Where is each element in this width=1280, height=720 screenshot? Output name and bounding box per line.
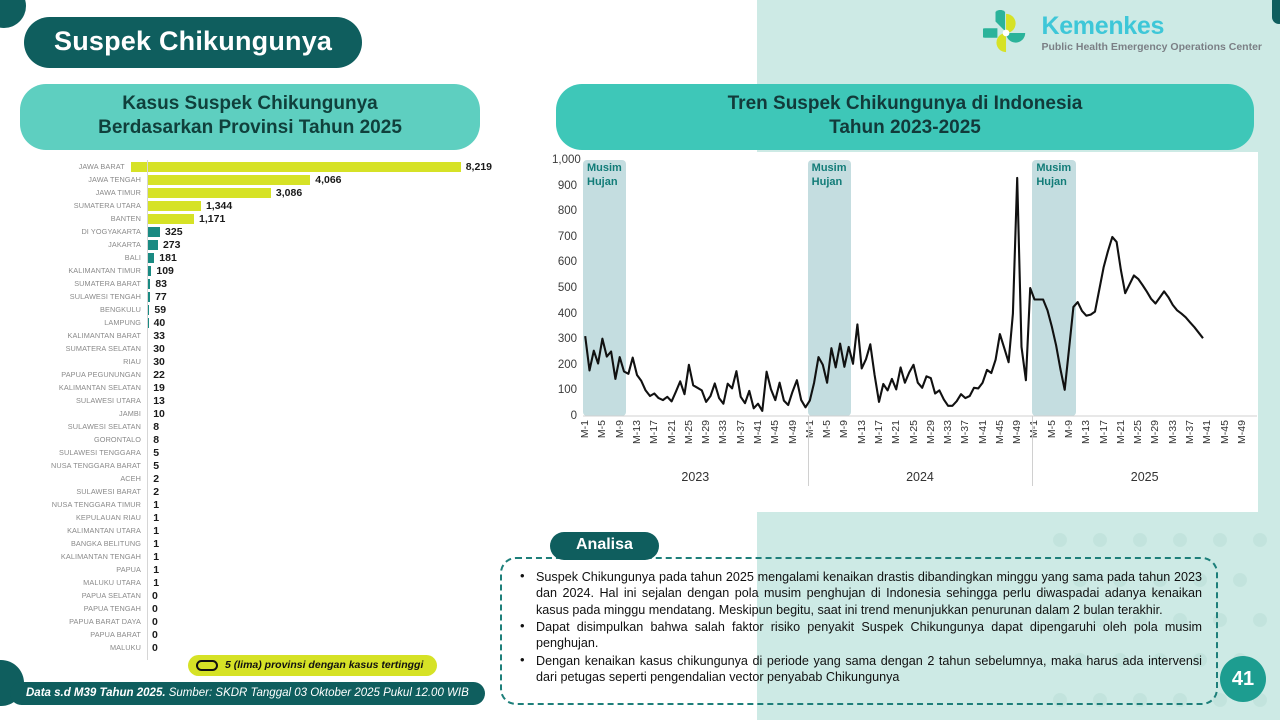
bar-track: 8 (147, 420, 492, 433)
season-label-line1: Musim (1036, 162, 1071, 174)
bar-category-label: KALIMANTAN TIMUR (22, 266, 147, 275)
bar-category-label: KALIMANTAN TENGAH (22, 552, 147, 561)
footer-rest: Sumber: SKDR Tanggal 03 Oktober 2025 Puk… (166, 687, 469, 699)
bar-value-label: 1 (153, 564, 159, 576)
bar-row: SULAWESI UTARA13 (22, 394, 492, 407)
bar-row: SULAWESI SELATAN8 (22, 420, 492, 433)
bar-category-label: PAPUA BARAT DAYA (22, 617, 147, 626)
bar-value-label: 1 (153, 499, 159, 511)
bar-value-label: 77 (155, 291, 167, 303)
bar-track: 5 (147, 446, 492, 459)
bar-track: 1 (147, 550, 492, 563)
legend-label: 5 (lima) provinsi dengan kasus tertinggi (225, 659, 423, 671)
season-label-line1: Musim (587, 162, 622, 174)
bar-value-label: 5 (153, 460, 159, 472)
bar-track: 1 (147, 537, 492, 550)
bar-category-label: SUMATERA BARAT (22, 279, 147, 288)
trend-series-svg (552, 152, 1258, 512)
season-label-line2: Hujan (1036, 176, 1067, 188)
analysis-badge: Analisa (550, 532, 659, 560)
bar-value-label: 8 (153, 421, 159, 433)
bar-category-label: BALI (22, 253, 147, 262)
bar-fill (147, 214, 194, 224)
bar-track: 325 (147, 225, 492, 238)
bar-row: KALIMANTAN SELATAN19 (22, 381, 492, 394)
bar-category-label: MALUKU UTARA (22, 578, 147, 587)
bar-value-label: 1 (153, 512, 159, 524)
bar-category-label: RIAU (22, 357, 147, 366)
bar-fill (147, 240, 158, 250)
bar-category-label: SUMATERA UTARA (22, 201, 147, 210)
bar-fill (147, 201, 201, 211)
bar-track: 1 (147, 524, 492, 537)
bar-row: KEPULAUAN RIAU1 (22, 511, 492, 524)
bar-value-label: 3,086 (276, 187, 302, 199)
bar-row: JAMBI10 (22, 407, 492, 420)
bar-value-label: 0 (152, 590, 158, 602)
decorative-circle-top-left (0, 0, 26, 28)
bar-value-label: 0 (152, 629, 158, 641)
bar-row: GORONTALO8 (22, 433, 492, 446)
bar-track: 1 (147, 563, 492, 576)
bar-value-label: 19 (153, 382, 165, 394)
bar-value-label: 8 (153, 434, 159, 446)
bar-track: 40 (147, 316, 492, 329)
bar-row: PAPUA BARAT DAYA0 (22, 615, 492, 628)
bar-track: 0 (147, 628, 492, 641)
bar-value-label: 33 (153, 330, 165, 342)
kemenkes-logo-icon (983, 10, 1031, 56)
bar-category-label: SUMATERA SELATAN (22, 344, 147, 353)
bar-track: 33 (147, 329, 492, 342)
page-title: Suspek Chikungunya (24, 17, 362, 68)
trend-line-chart: 01002003004005006007008009001,000MusimHu… (552, 152, 1258, 512)
bar-value-label: 273 (163, 239, 181, 251)
bar-category-label: KEPULAUAN RIAU (22, 513, 147, 522)
bar-track: 0 (147, 615, 492, 628)
data-source-footer: Data s.d M39 Tahun 2025. Sumber: SKDR Ta… (10, 682, 485, 705)
bar-value-label: 1 (153, 525, 159, 537)
bar-value-label: 40 (154, 317, 166, 329)
analysis-item: Dengan kenaikan kasus chikungunya di per… (516, 653, 1202, 686)
bar-row: DI YOGYAKARTA325 (22, 225, 492, 238)
bar-value-label: 10 (153, 408, 165, 420)
bar-category-label: SULAWESI TENGGARA (22, 448, 147, 457)
bar-category-label: KALIMANTAN UTARA (22, 526, 147, 535)
bar-value-label: 2 (153, 473, 159, 485)
bar-value-label: 59 (154, 304, 166, 316)
bar-value-label: 0 (152, 616, 158, 628)
bar-row: JAWA TIMUR3,086 (22, 186, 492, 199)
bar-fill (131, 162, 461, 172)
kemenkes-logo: Kemenkes Public Health Emergency Operati… (983, 10, 1262, 56)
season-label-line2: Hujan (587, 176, 618, 188)
bar-category-label: JAWA BARAT (22, 162, 131, 171)
bar-track: 1,171 (147, 212, 492, 225)
bar-value-label: 13 (153, 395, 165, 407)
bar-track: 3,086 (147, 186, 492, 199)
bar-row: BENGKULU59 (22, 303, 492, 316)
left-chart-title-line1: Kasus Suspek Chikungunya (34, 92, 466, 116)
bar-row: ACEH2 (22, 472, 492, 485)
rainy-season-label: MusimHujan (1036, 162, 1071, 190)
bar-track: 8,219 (131, 160, 492, 173)
right-chart-title-line2: Tahun 2023-2025 (570, 116, 1240, 140)
bar-value-label: 0 (152, 603, 158, 615)
bar-category-label: PAPUA SELATAN (22, 591, 147, 600)
bar-category-label: BANGKA BELITUNG (22, 539, 147, 548)
bar-row: SULAWESI TENGGARA5 (22, 446, 492, 459)
bar-category-label: SULAWESI BARAT (22, 487, 147, 496)
bar-track: 30 (147, 355, 492, 368)
bar-category-label: JAKARTA (22, 240, 147, 249)
legend-swatch-icon (196, 660, 218, 671)
bar-category-label: GORONTALO (22, 435, 147, 444)
bar-value-label: 1 (153, 551, 159, 563)
left-chart-title-line2: Berdasarkan Provinsi Tahun 2025 (34, 116, 466, 140)
bar-row: MALUKU0 (22, 641, 492, 654)
decorative-bar-top-right (1272, 0, 1280, 24)
bar-chart-legend: 5 (lima) provinsi dengan kasus tertinggi (188, 655, 437, 676)
bar-row: BALI181 (22, 251, 492, 264)
logo-subtitle: Public Health Emergency Operations Cente… (1041, 42, 1262, 53)
bar-track: 0 (147, 589, 492, 602)
bar-category-label: JAMBI (22, 409, 147, 418)
bar-value-label: 181 (159, 252, 177, 264)
bar-category-label: KALIMANTAN BARAT (22, 331, 147, 340)
bar-value-label: 22 (153, 369, 165, 381)
bar-row: JAWA TENGAH4,066 (22, 173, 492, 186)
bar-row: KALIMANTAN BARAT33 (22, 329, 492, 342)
bar-fill (147, 175, 310, 185)
bar-row: BANGKA BELITUNG1 (22, 537, 492, 550)
bar-category-label: PAPUA BARAT (22, 630, 147, 639)
bar-track: 2 (147, 472, 492, 485)
bar-row: JAKARTA273 (22, 238, 492, 251)
bar-category-label: LAMPUNG (22, 318, 147, 327)
analysis-box: Suspek Chikungunya pada tahun 2025 menga… (500, 557, 1218, 705)
season-label-line2: Hujan (812, 176, 843, 188)
bar-category-label: MALUKU (22, 643, 147, 652)
bar-category-label: NUSA TENGGARA TIMUR (22, 500, 147, 509)
bar-fill (147, 188, 271, 198)
bar-category-label: DI YOGYAKARTA (22, 227, 147, 236)
bar-value-label: 1 (153, 577, 159, 589)
bar-row: KALIMANTAN TENGAH1 (22, 550, 492, 563)
bar-category-label: ACEH (22, 474, 147, 483)
bar-value-label: 4,066 (315, 174, 341, 186)
bar-track: 19 (147, 381, 492, 394)
footer-bold: Data s.d M39 Tahun 2025. (26, 687, 166, 699)
bar-value-label: 83 (155, 278, 167, 290)
bar-row: PAPUA SELATAN0 (22, 589, 492, 602)
bar-row: KALIMANTAN TIMUR109 (22, 264, 492, 277)
bar-category-label: PAPUA (22, 565, 147, 574)
bar-value-label: 325 (165, 226, 183, 238)
bar-track: 77 (147, 290, 492, 303)
bar-track: 1 (147, 576, 492, 589)
bar-row: RIAU30 (22, 355, 492, 368)
rainy-season-label: MusimHujan (587, 162, 622, 190)
bar-track: 8 (147, 433, 492, 446)
bar-row: BANTEN1,171 (22, 212, 492, 225)
bar-track: 10 (147, 407, 492, 420)
bar-row: LAMPUNG40 (22, 316, 492, 329)
bar-track: 1 (147, 511, 492, 524)
bar-fill (147, 227, 160, 237)
bar-value-label: 1,344 (206, 200, 232, 212)
bar-value-label: 5 (153, 447, 159, 459)
bar-row: MALUKU UTARA1 (22, 576, 492, 589)
bar-category-label: SULAWESI TENGAH (22, 292, 147, 301)
bar-row: SULAWESI BARAT2 (22, 485, 492, 498)
bar-category-label: SULAWESI SELATAN (22, 422, 147, 431)
bar-track: 0 (147, 602, 492, 615)
bar-row: PAPUA TENGAH0 (22, 602, 492, 615)
bar-track: 22 (147, 368, 492, 381)
bar-category-label: KALIMANTAN SELATAN (22, 383, 147, 392)
bar-row: SUMATERA BARAT83 (22, 277, 492, 290)
bar-category-label: JAWA TENGAH (22, 175, 147, 184)
bar-row: KALIMANTAN UTARA1 (22, 524, 492, 537)
trend-line (585, 178, 1203, 411)
bar-value-label: 109 (156, 265, 174, 277)
bar-category-label: BANTEN (22, 214, 147, 223)
bar-value-label: 1,171 (199, 213, 225, 225)
rainy-season-label: MusimHujan (812, 162, 847, 190)
bar-track: 0 (147, 641, 492, 654)
bar-track: 109 (147, 264, 492, 277)
province-bar-chart: JAWA BARAT8,219JAWA TENGAH4,066JAWA TIMU… (22, 160, 492, 660)
bar-category-label: SULAWESI UTARA (22, 396, 147, 405)
bar-row: JAWA BARAT8,219 (22, 160, 492, 173)
bar-track: 2 (147, 485, 492, 498)
bar-fill (147, 253, 154, 263)
bar-value-label: 30 (153, 356, 165, 368)
bar-track: 181 (147, 251, 492, 264)
analysis-item: Suspek Chikungunya pada tahun 2025 menga… (516, 569, 1202, 618)
bar-row: NUSA TENGGARA TIMUR1 (22, 498, 492, 511)
bar-track: 1 (147, 498, 492, 511)
bar-track: 273 (147, 238, 492, 251)
logo-title: Kemenkes (1041, 14, 1262, 39)
bar-value-label: 30 (153, 343, 165, 355)
bar-track: 4,066 (147, 173, 492, 186)
season-label-line1: Musim (812, 162, 847, 174)
bar-track: 30 (147, 342, 492, 355)
bar-category-label: JAWA TIMUR (22, 188, 147, 197)
bar-category-label: PAPUA TENGAH (22, 604, 147, 613)
bar-chart-axis (147, 160, 148, 660)
bar-row: PAPUA PEGUNUNGAN22 (22, 368, 492, 381)
left-chart-title: Kasus Suspek Chikungunya Berdasarkan Pro… (20, 84, 480, 150)
bar-row: SULAWESI TENGAH77 (22, 290, 492, 303)
bar-row: SUMATERA UTARA1,344 (22, 199, 492, 212)
bar-category-label: BENGKULU (22, 305, 147, 314)
bar-category-label: PAPUA PEGUNUNGAN (22, 370, 147, 379)
page-number-badge: 41 (1220, 656, 1266, 702)
bar-row: SUMATERA SELATAN30 (22, 342, 492, 355)
bar-value-label: 0 (152, 642, 158, 654)
bar-track: 59 (147, 303, 492, 316)
bar-value-label: 8,219 (466, 161, 492, 173)
analysis-item: Dapat disimpulkan bahwa salah faktor ris… (516, 619, 1202, 652)
bar-track: 5 (147, 459, 492, 472)
bar-track: 13 (147, 394, 492, 407)
bar-row: PAPUA1 (22, 563, 492, 576)
bar-value-label: 1 (153, 538, 159, 550)
right-chart-title: Tren Suspek Chikungunya di Indonesia Tah… (556, 84, 1254, 150)
right-chart-title-line1: Tren Suspek Chikungunya di Indonesia (570, 92, 1240, 116)
bar-track: 83 (147, 277, 492, 290)
bar-value-label: 2 (153, 486, 159, 498)
bar-track: 1,344 (147, 199, 492, 212)
bar-category-label: NUSA TENGGARA BARAT (22, 461, 147, 470)
bar-row: PAPUA BARAT0 (22, 628, 492, 641)
analysis-list: Suspek Chikungunya pada tahun 2025 menga… (516, 569, 1202, 686)
bar-row: NUSA TENGGARA BARAT5 (22, 459, 492, 472)
